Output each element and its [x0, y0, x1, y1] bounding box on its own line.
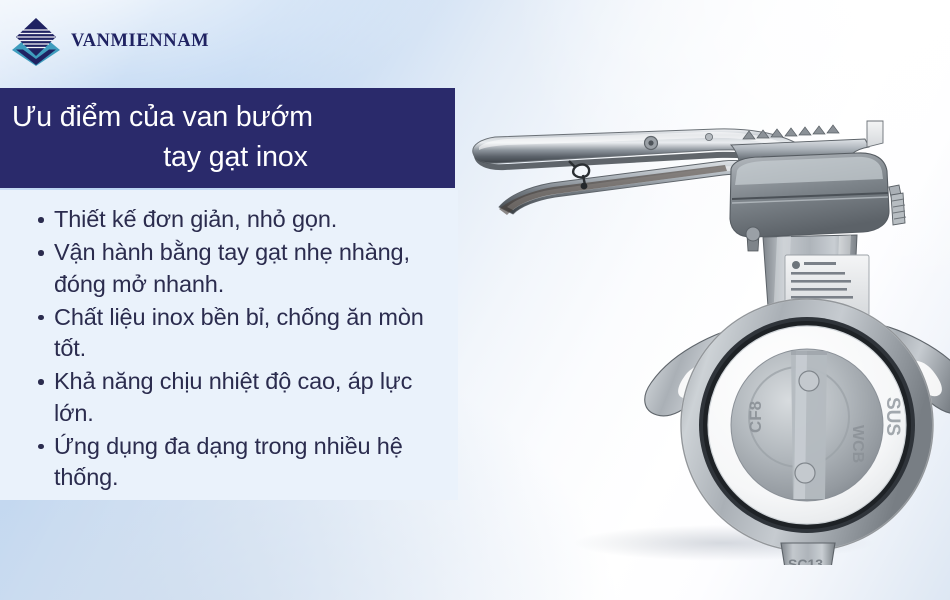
- valve-body: CF8 WCB SUS SC13: [645, 299, 950, 565]
- title-banner: Ưu điểm của van bướm tay gạt inox: [0, 88, 455, 188]
- bottom-stem: SC13: [781, 543, 835, 565]
- disc-pin-top: [799, 371, 819, 391]
- list-item: Chất liệu inox bền bỉ, chống ăn mòn tốt.: [38, 302, 442, 365]
- disc-pin-bottom: [795, 463, 815, 483]
- benefits-list: Thiết kế đơn giản, nhỏ gọn. Vận hành bằn…: [14, 204, 442, 493]
- list-item: Thiết kế đơn giản, nhỏ gọn.: [38, 204, 442, 235]
- list-item: Khả năng chịu nhiệt độ cao, áp lực lớn.: [38, 366, 442, 429]
- title-line-1: Ưu điểm của van bướm: [6, 98, 313, 138]
- housing-bolt-left: [746, 227, 760, 251]
- brand-logo: VANMIENNAM: [10, 15, 209, 67]
- title-line-2: tay gạt inox: [139, 138, 308, 178]
- benefits-panel: Thiết kế đơn giản, nhỏ gọn. Vận hành bằn…: [0, 190, 458, 500]
- vanmiennam-diamond-logo-icon: [10, 16, 62, 66]
- butterfly-valve-lever-photo: CF8 WCB SUS SC13: [455, 95, 950, 565]
- svg-text:WCB: WCB: [849, 425, 866, 463]
- housing-bolt-right: [889, 185, 906, 225]
- list-item: Vận hành bằng tay gạt nhẹ nhàng, đóng mở…: [38, 237, 442, 300]
- slide-canvas: VANMIENNAM Ưu điểm của van bướm tay gạt …: [0, 0, 950, 600]
- svg-text:SUS: SUS: [882, 397, 903, 436]
- valve-disc: CF8 WCB: [731, 349, 883, 501]
- svg-text:SC13: SC13: [788, 556, 823, 565]
- list-item: Ứng dụng đa dạng trong nhiều hệ thống.: [38, 431, 442, 494]
- svg-text:CF8: CF8: [746, 401, 765, 433]
- brand-name: VANMIENNAM: [71, 31, 209, 52]
